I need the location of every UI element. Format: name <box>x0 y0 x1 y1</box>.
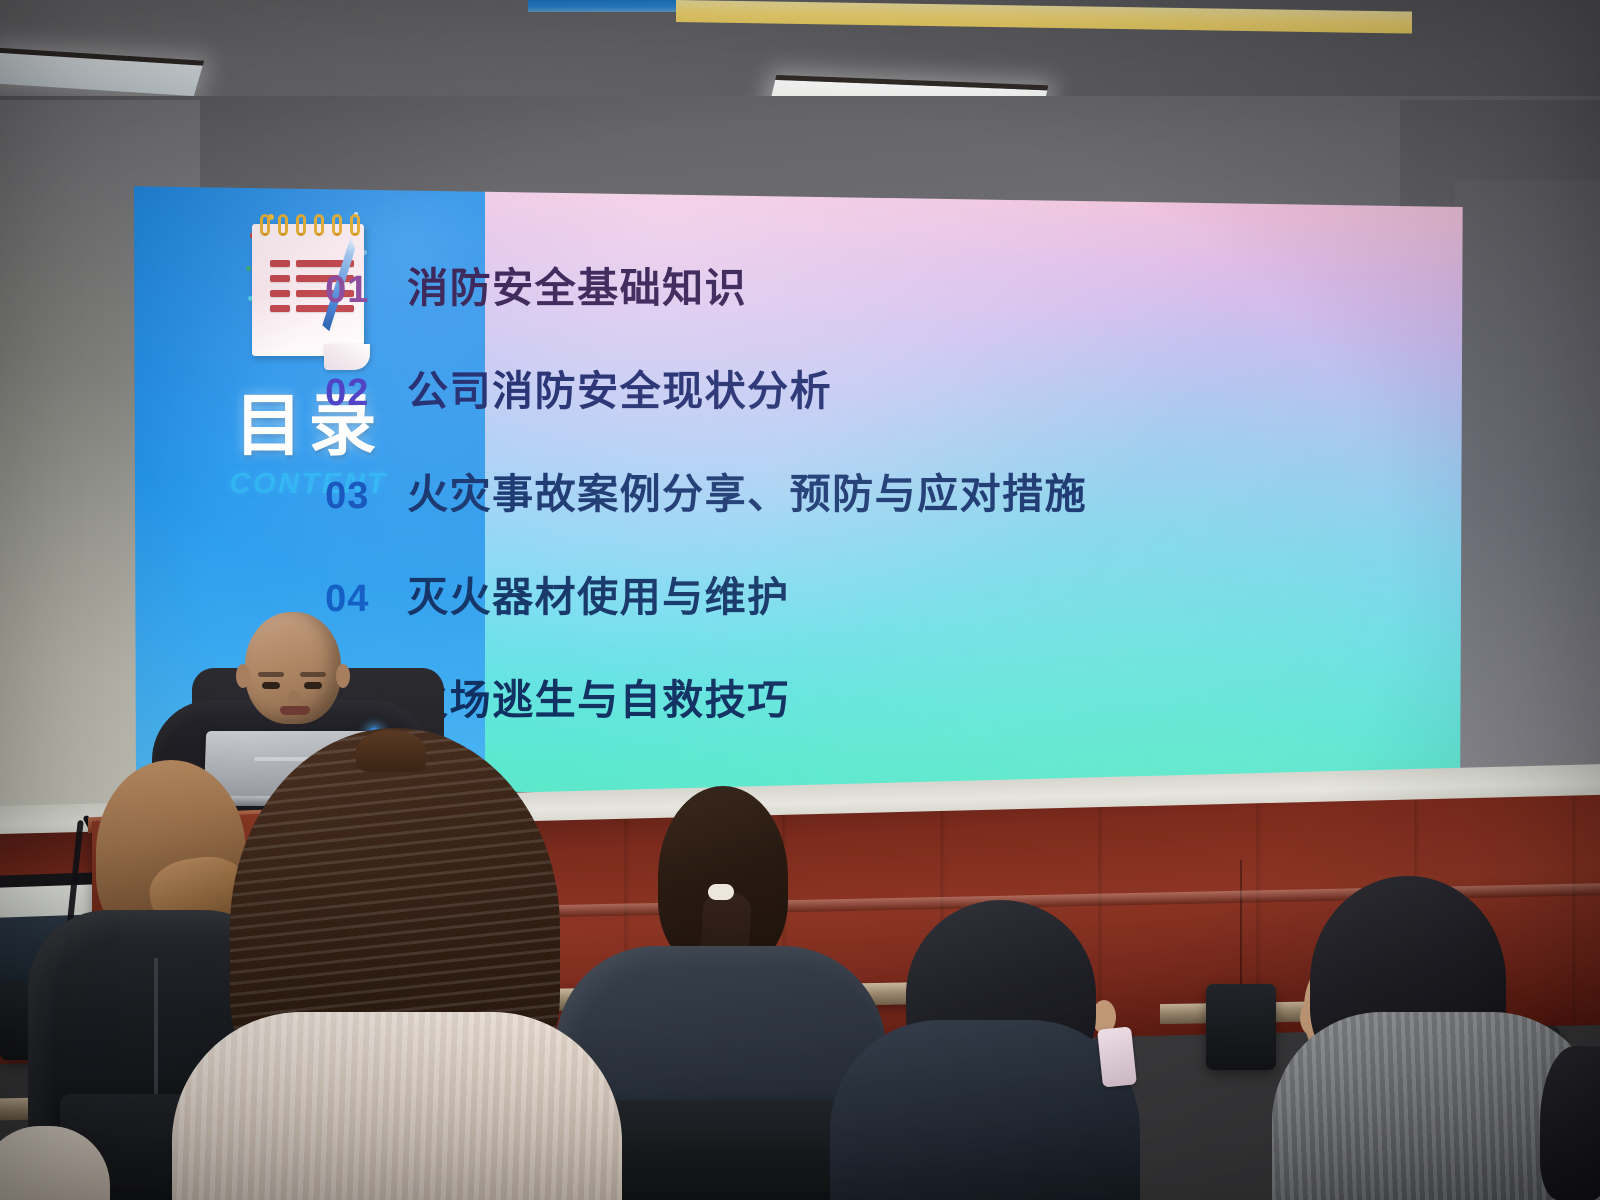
audience-member-hair-tie <box>708 884 734 900</box>
toc-item-05: 05 火场逃生与自救技巧 <box>325 666 1444 726</box>
audience-member-torso <box>830 1020 1140 1200</box>
toc-label: 火场逃生与自救技巧 <box>407 666 790 726</box>
audience-member-hair <box>1540 1046 1600 1200</box>
toc-item-04: 04 灭火器材使用与维护 <box>325 563 1444 623</box>
toc-item-03: 03 火灾事故案例分享、预防与应对措施 <box>325 460 1444 520</box>
toc-label: 公司消防安全现状分析 <box>407 357 832 417</box>
presenter-mouth <box>280 706 310 715</box>
presenter-eye <box>304 682 322 689</box>
toc-number: 02 <box>325 372 407 415</box>
slide-contents-list: 01 消防安全基础知识 02 公司消防安全现状分析 03 火灾事故案例分享、预防… <box>325 254 1444 769</box>
toc-item-01: 01 消防安全基础知识 <box>325 254 1444 314</box>
audience-member-hair-part <box>356 730 426 772</box>
presenter-eye <box>262 682 280 689</box>
toc-label: 火灾事故案例分享、预防与应对措施 <box>407 460 1087 520</box>
wall-right-pillar <box>1455 180 1600 830</box>
chair <box>1206 984 1276 1070</box>
toc-label: 灭火器材使用与维护 <box>407 563 790 623</box>
presenter-ear <box>336 664 350 688</box>
toc-label: 消防安全基础知识 <box>407 254 747 314</box>
toc-number: 03 <box>325 475 407 518</box>
ceiling-strip-blue <box>528 0 680 12</box>
toc-item-02: 02 公司消防安全现状分析 <box>325 357 1444 417</box>
presenter-brow <box>258 672 284 677</box>
presenter-brow <box>300 672 326 677</box>
phone-icon <box>1097 1026 1137 1087</box>
presenter-nose <box>288 690 301 704</box>
presenter-ear <box>236 664 250 688</box>
toc-number: 04 <box>325 578 407 621</box>
sparkle-icon <box>246 266 251 271</box>
toc-number: 01 <box>325 269 407 312</box>
conference-room-scene: 目录 CONTENT 01 消防安全基础知识 02 公司消防安全现状分析 03 … <box>0 0 1600 1200</box>
wood-panel-seam <box>1240 860 1242 1000</box>
audience-member-torso <box>172 1012 622 1200</box>
notepad-spiral-rings <box>260 214 360 236</box>
